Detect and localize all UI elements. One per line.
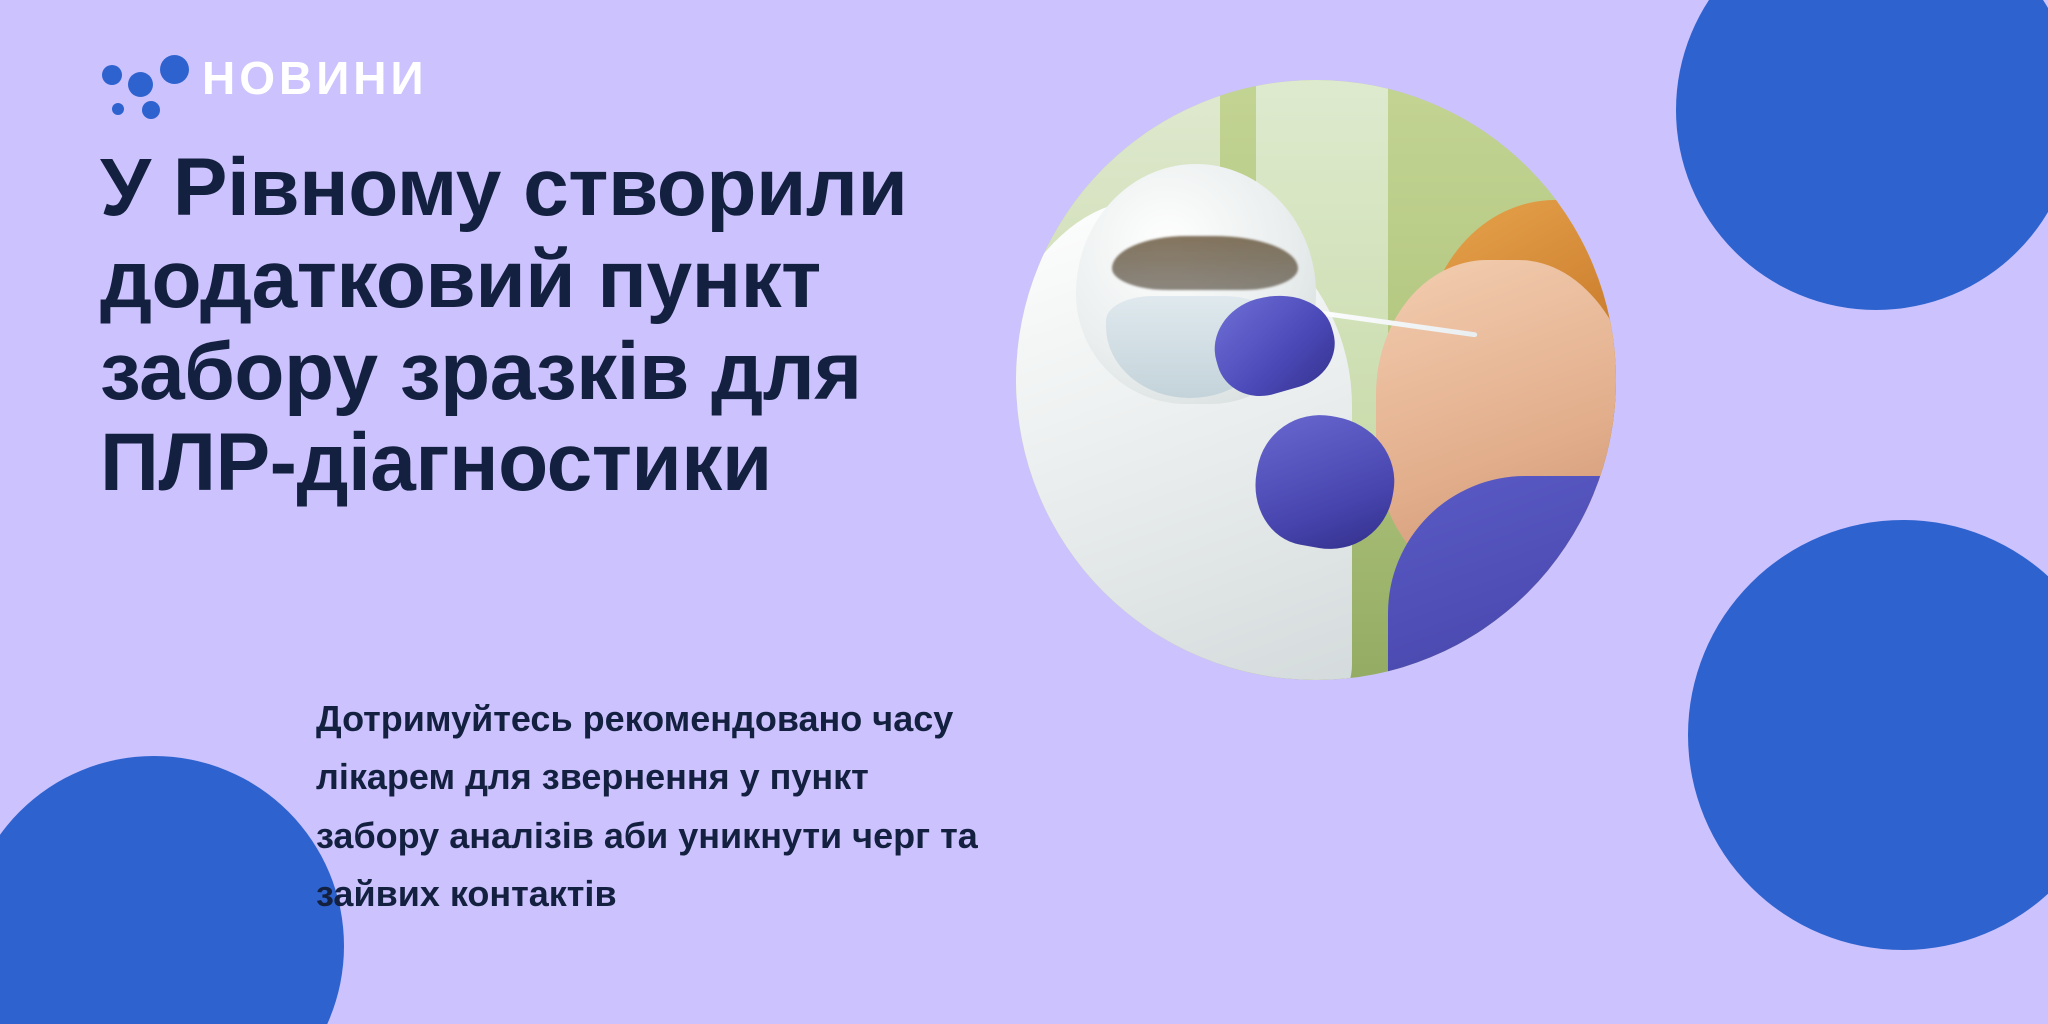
subtitle: Дотримуйтесь рекомендовано часу лікарем … <box>316 690 1036 923</box>
subtitle-line-1: Дотримуйтесь рекомендовано часу <box>316 690 1036 748</box>
subtitle-line-4: зайвих контактів <box>316 865 1036 923</box>
brand-name: НОВИНИ <box>202 55 428 101</box>
decor-circle-mid-right <box>1688 520 2048 950</box>
page-title: У Рівному створили додатковий пункт забо… <box>100 142 1060 509</box>
headline-line-4: ПЛР-діагностики <box>100 417 1060 509</box>
logo-dot-1 <box>102 65 122 85</box>
photo-scene <box>1016 80 1616 680</box>
logo-dot-2 <box>128 72 153 97</box>
brand-logo[interactable]: НОВИНИ <box>98 46 428 110</box>
logo-dot-5 <box>112 103 124 115</box>
headline-line-1: У Рівному створили <box>100 142 1060 234</box>
dots-cluster-icon <box>98 49 176 107</box>
pcr-test-photo <box>1016 80 1616 680</box>
decor-circle-top-right <box>1676 0 2048 310</box>
decor-circle-bottom-left <box>0 756 344 1024</box>
logo-dot-4 <box>142 101 160 119</box>
news-banner: НОВИНИ У Рівному створили додатковий пун… <box>0 0 2048 1024</box>
logo-dot-3 <box>160 55 189 84</box>
subtitle-line-2: лікарем для звернення у пункт <box>316 748 1036 806</box>
headline-line-3: забору зразків для <box>100 326 1060 418</box>
subtitle-line-3: забору аналізів аби уникнути черг та <box>316 807 1036 865</box>
photo-medic-goggles <box>1112 236 1298 290</box>
headline-line-2: додатковий пункт <box>100 234 1060 326</box>
